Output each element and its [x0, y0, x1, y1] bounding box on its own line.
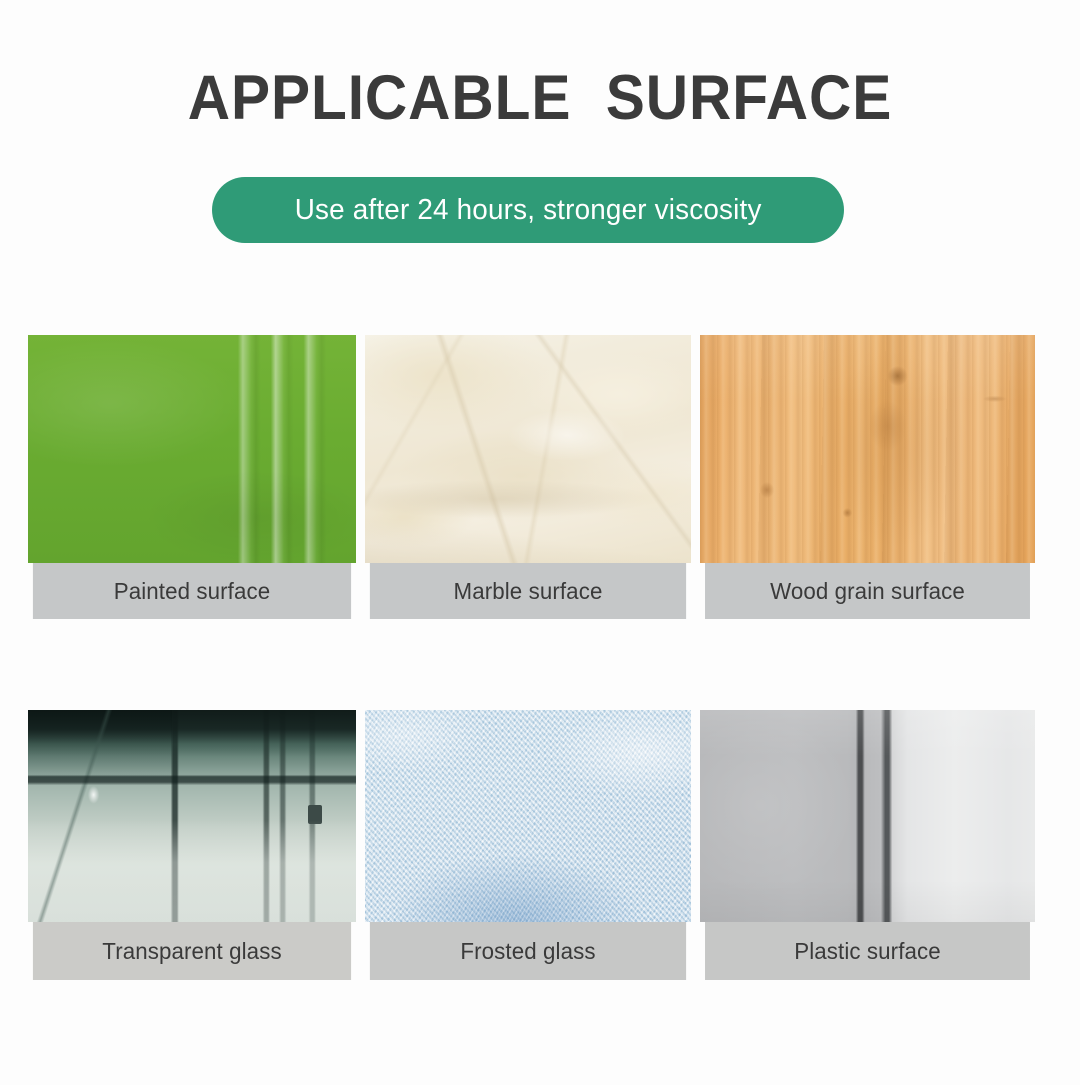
plastic-surface-image [700, 710, 1035, 922]
surface-card-transparent-glass[interactable]: Transparent glass [28, 710, 356, 980]
surface-card-frosted-glass[interactable]: Frosted glass [365, 710, 691, 980]
surface-caption-painted: Painted surface [33, 563, 351, 619]
painted-green-panel-texture [28, 335, 356, 563]
surface-caption-marble: Marble surface [370, 563, 686, 619]
frosted-blue-glass-texture [365, 710, 691, 922]
surface-caption-frosted-glass: Frosted glass [370, 922, 686, 980]
surface-caption-transparent-glass: Transparent glass [33, 922, 351, 980]
amber-wood-grain-texture [700, 335, 1035, 563]
surface-row-2: Transparent glass Frosted glass Plastic … [0, 710, 1080, 1085]
subtitle-pill-banner: Use after 24 hours, stronger viscosity [212, 177, 844, 243]
frosted-glass-image [365, 710, 691, 922]
page-title: APPLICABLE SURFACE [38, 62, 1042, 134]
subtitle-pill-label: Use after 24 hours, stronger viscosity [295, 194, 762, 227]
clear-glass-door-texture [28, 710, 356, 922]
gray-white-plastic-texture [700, 710, 1035, 922]
glass-door-handle [308, 805, 321, 824]
surface-card-wood-grain[interactable]: Wood grain surface [700, 335, 1035, 619]
transparent-glass-image [28, 710, 356, 922]
surface-caption-plastic: Plastic surface [705, 922, 1030, 980]
painted-surface-image [28, 335, 356, 563]
surface-card-painted[interactable]: Painted surface [28, 335, 356, 619]
surface-grid: Painted surface Marble surface Wood grai… [0, 335, 1080, 1085]
marble-surface-image [365, 335, 691, 563]
wood-grain-surface-image [700, 335, 1035, 563]
surface-caption-wood-grain: Wood grain surface [705, 563, 1030, 619]
surface-card-plastic[interactable]: Plastic surface [700, 710, 1035, 980]
surface-card-marble[interactable]: Marble surface [365, 335, 691, 619]
cream-marble-texture [365, 335, 691, 563]
glass-left-panel [28, 710, 172, 922]
surface-row-1: Painted surface Marble surface Wood grai… [0, 335, 1080, 710]
